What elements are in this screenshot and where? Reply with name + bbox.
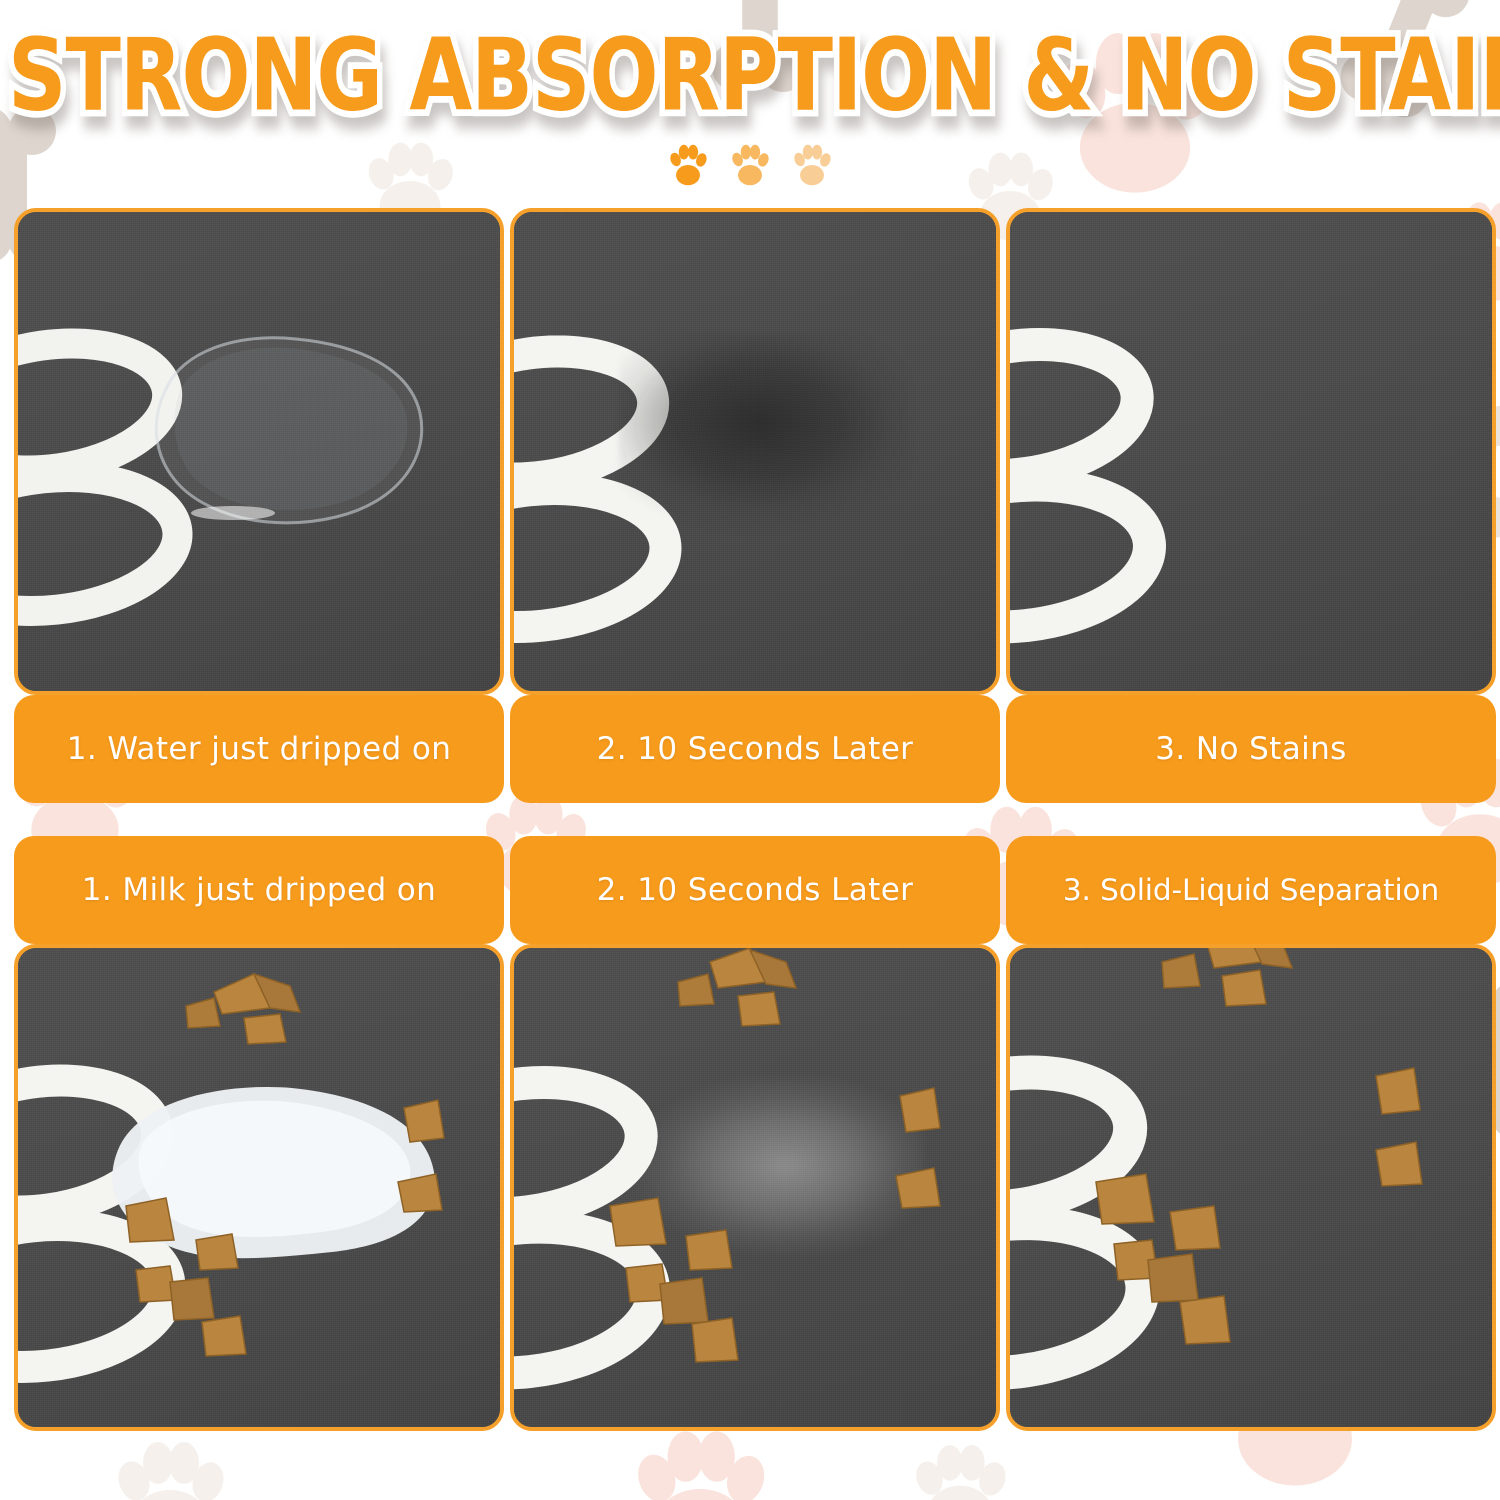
- demo-grid: 1. Water just dripped on 2. 10 Seconds L…: [14, 208, 1486, 1484]
- caption-water-step-3: 3. No Stains: [1006, 695, 1496, 803]
- milk-just-dripped-photo: [14, 944, 504, 1431]
- paw-print-icon: [789, 142, 835, 188]
- water-puddle-shape: [138, 317, 438, 547]
- paw-divider: [0, 142, 1500, 188]
- water-no-stains-photo: [1006, 208, 1496, 695]
- page-title: STRONG ABSORPTION & NO STAINS: [8, 18, 1500, 134]
- damp-patch: [619, 332, 909, 547]
- row-spacer: [14, 803, 1496, 836]
- caption-milk-step-2: 2. 10 Seconds Later: [510, 836, 1000, 944]
- milk-absorbing-photo: [510, 944, 1000, 1431]
- header-title-wrap: STRONG ABSORPTION & NO STAINS: [0, 18, 1500, 113]
- kibble-piece: [610, 948, 940, 1362]
- caption-water-step-1: 1. Water just dripped on: [14, 695, 504, 803]
- water-just-dripped-photo: [14, 208, 504, 695]
- kibble-piece: [126, 974, 444, 1356]
- kibble-pieces: [514, 948, 996, 1427]
- milk-separated-photo: [1006, 944, 1496, 1431]
- paw-print-icon: [665, 142, 711, 188]
- paw-print-icon: [727, 142, 773, 188]
- kibble-pieces: [1010, 948, 1492, 1427]
- caption-water-step-2: 2. 10 Seconds Later: [510, 695, 1000, 803]
- water-absorbing-photo: [510, 208, 1000, 695]
- caption-milk-step-1: 1. Milk just dripped on: [14, 836, 504, 944]
- white-paw-swirl-icon: [1006, 324, 1198, 654]
- kibble-piece: [1096, 948, 1422, 1344]
- kibble-pieces: [18, 948, 500, 1427]
- caption-milk-step-3: 3. Solid-Liquid Separation: [1006, 836, 1496, 944]
